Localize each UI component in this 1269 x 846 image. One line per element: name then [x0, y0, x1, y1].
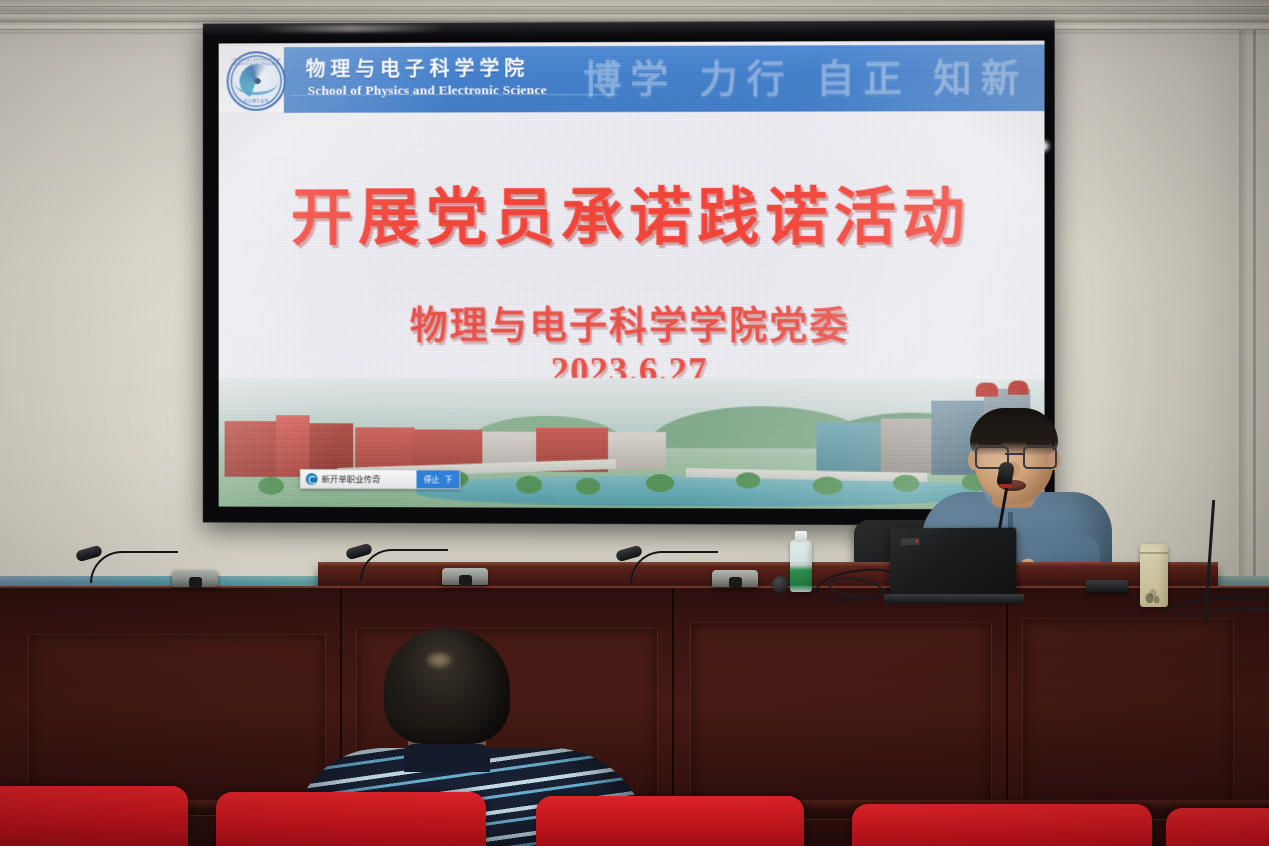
- led-display-screen: CHANGSHA UNIVERSITY OF SCIENCE & TECHNOL…: [203, 20, 1055, 525]
- university-emblem-icon: CHANGSHA UNIVERSITY OF SCIENCE & TECHNOL…: [227, 51, 286, 111]
- slide-title: 开展党员承诺践诺活动: [219, 166, 1045, 257]
- speaker-eyebrow-left: [978, 441, 1002, 445]
- attendee-head-back: [384, 628, 510, 744]
- thermos-decoration: [1143, 579, 1165, 603]
- browser-notification-bar[interactable]: 新开单职业传奇 停止 下: [300, 469, 461, 489]
- emblem-arc-icon: [234, 70, 277, 95]
- remote-control: [1086, 580, 1128, 593]
- red-chair: [1166, 808, 1269, 846]
- wall-corner: [1239, 30, 1247, 630]
- red-chair: [536, 796, 804, 846]
- lens-right: [1023, 446, 1057, 469]
- bottle-cap: [795, 531, 807, 542]
- laptop-computer: [890, 528, 1016, 599]
- microphone-indicator-ring: [999, 484, 1012, 488]
- thermos-lid-seam: [1140, 552, 1168, 554]
- red-chair: [852, 804, 1152, 846]
- emblem-ring-top-text: CHANGSHA UNIVERSITY OF SCIENCE & TECHNOL…: [229, 58, 284, 66]
- slide-motto-watermark: 博学 力行 自正 知新: [583, 47, 1028, 103]
- notification-stop-button[interactable]: 停止 下: [417, 470, 460, 488]
- attendee-hair-highlight: [426, 652, 452, 668]
- slide-header: CHANGSHA UNIVERSITY OF SCIENCE & TECHNOL…: [219, 41, 1045, 115]
- notification-stop-label: 停止: [424, 474, 440, 485]
- campus-panorama-image: [219, 377, 1045, 509]
- notification-extra-label: 下: [445, 474, 453, 485]
- screen-surface: CHANGSHA UNIVERSITY OF SCIENCE & TECHNOL…: [219, 41, 1045, 510]
- red-chair: [216, 792, 486, 846]
- water-bottle: [790, 540, 812, 592]
- speaker-eyebrow-right: [1026, 441, 1050, 445]
- slide-school-name-en: School of Physics and Electronic Science: [308, 82, 547, 99]
- wall-seam: [1253, 30, 1256, 630]
- attendee-collar: [404, 744, 490, 772]
- glasses-bridge: [1005, 453, 1023, 455]
- microphone-windscreen: [772, 576, 789, 593]
- slide-school-name-cn: 物理与电子科学学院: [306, 52, 530, 82]
- thinkpad-logo-icon: [901, 538, 920, 546]
- emblem-ring-bottom-text: 长沙理工大学: [229, 99, 284, 105]
- thermos-flask: [1140, 544, 1168, 607]
- notification-text: 新开单职业传奇: [322, 473, 381, 485]
- red-chair: [0, 786, 188, 846]
- browser-e-icon: [306, 473, 318, 485]
- presentation-room-photo: CHANGSHA UNIVERSITY OF SCIENCE & TECHNOL…: [0, 0, 1269, 846]
- slide-subtitle: 物理与电子科学学院党委: [219, 294, 1045, 350]
- laptop-base: [884, 594, 1024, 604]
